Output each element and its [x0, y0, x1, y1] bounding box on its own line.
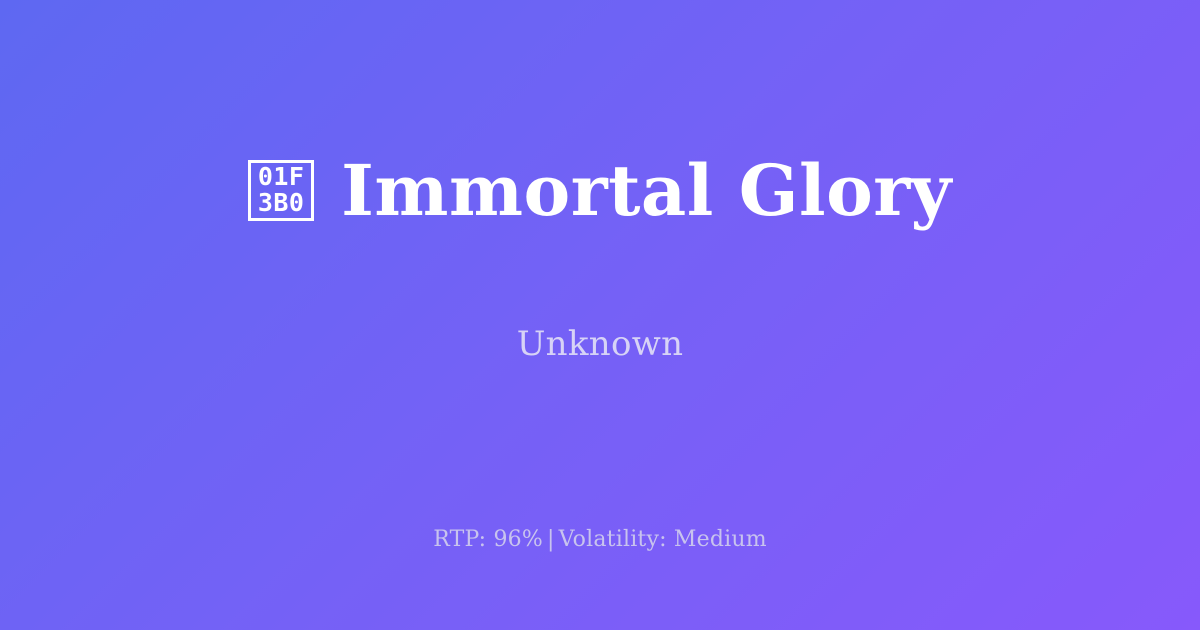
- title-row: 01F 3B0 Immortal Glory: [248, 107, 952, 274]
- game-preview-card: 01F 3B0 Immortal Glory Unknown RTP: 96%|…: [0, 0, 1200, 630]
- rtp-value: RTP: 96%: [433, 527, 543, 552]
- meta-separator: |: [543, 527, 559, 552]
- game-meta-line: RTP: 96%|Volatility: Medium: [0, 527, 1200, 553]
- game-title: Immortal Glory: [341, 154, 952, 228]
- slot-machine-icon: 01F 3B0: [248, 160, 314, 221]
- game-provider-subtitle: Unknown: [517, 326, 684, 363]
- volatility-value: Volatility: Medium: [559, 527, 767, 552]
- hero-block: 01F 3B0 Immortal Glory Unknown: [0, 0, 1200, 470]
- slot-machine-icon-codepoint-bottom: 3B0: [258, 190, 305, 216]
- slot-machine-icon-codepoint-top: 01F: [258, 164, 305, 190]
